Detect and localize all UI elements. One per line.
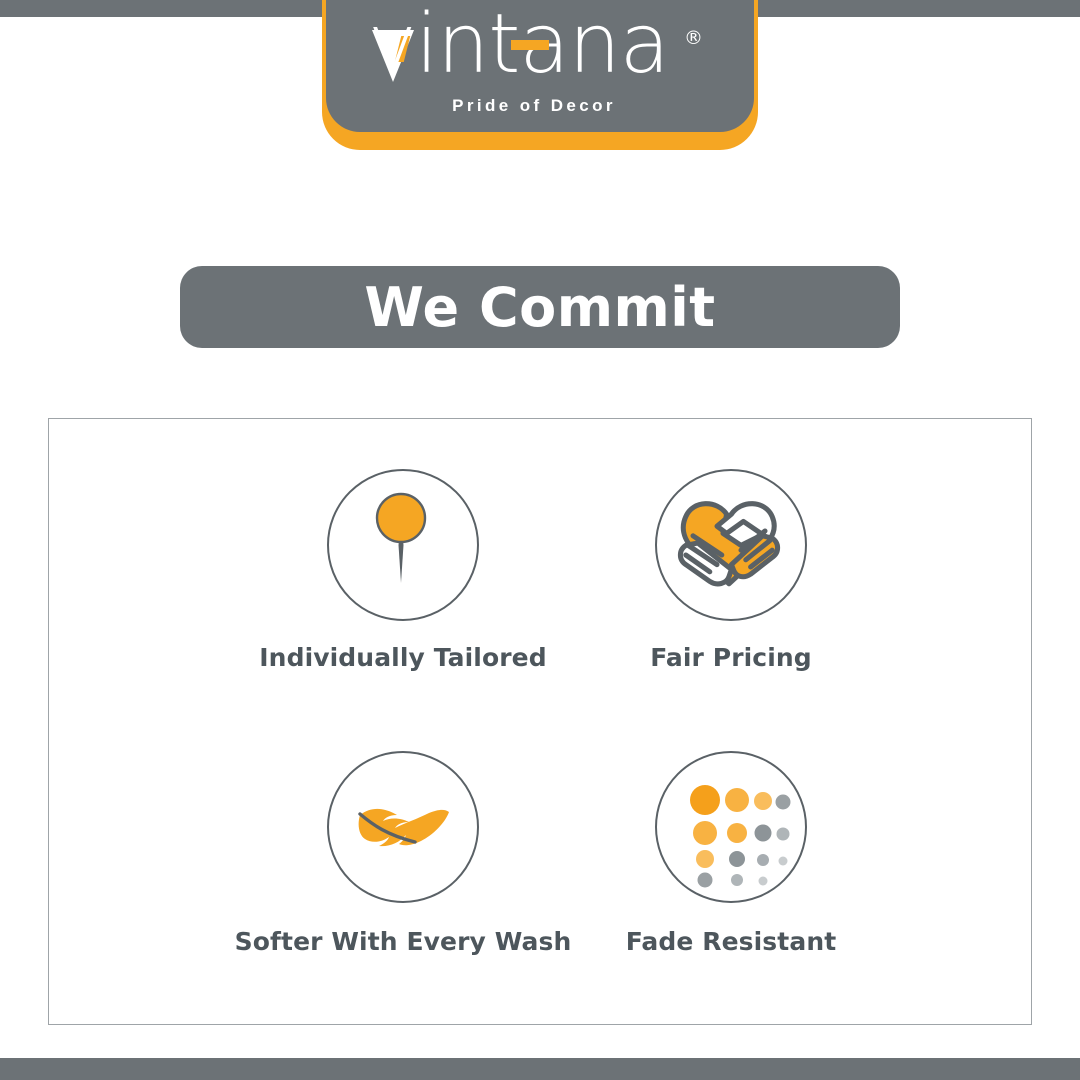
- feather-icon: [327, 751, 479, 903]
- fading-dot-grid-icon: [655, 751, 807, 903]
- push-pin-icon: [327, 469, 479, 621]
- logo-t-crossbar: [511, 40, 549, 50]
- feature-item-fair-pricing: Fair Pricing: [521, 469, 941, 672]
- feature-item-fade-resistant: Fade Resistant: [521, 751, 941, 956]
- page-title-banner: We Commit: [180, 266, 900, 348]
- features-grid: Individually Tailored: [49, 419, 1033, 1026]
- feature-label: Fair Pricing: [521, 643, 941, 672]
- registered-trademark-icon: ®: [684, 27, 703, 49]
- logo-lockup: vintana ® Pride of Decor: [326, 0, 754, 132]
- brand-logo: vintana ® Pride of Decor: [322, 0, 758, 152]
- bottom-accent-bar: [0, 1058, 1080, 1080]
- logo-gray-plate: vintana ® Pride of Decor: [326, 0, 754, 132]
- feature-label: Fade Resistant: [521, 927, 941, 956]
- features-panel: Individually Tailored: [48, 418, 1032, 1025]
- page-title: We Commit: [364, 276, 715, 339]
- logo-tagline: Pride of Decor: [326, 96, 754, 116]
- handshake-heart-icon: [655, 469, 807, 621]
